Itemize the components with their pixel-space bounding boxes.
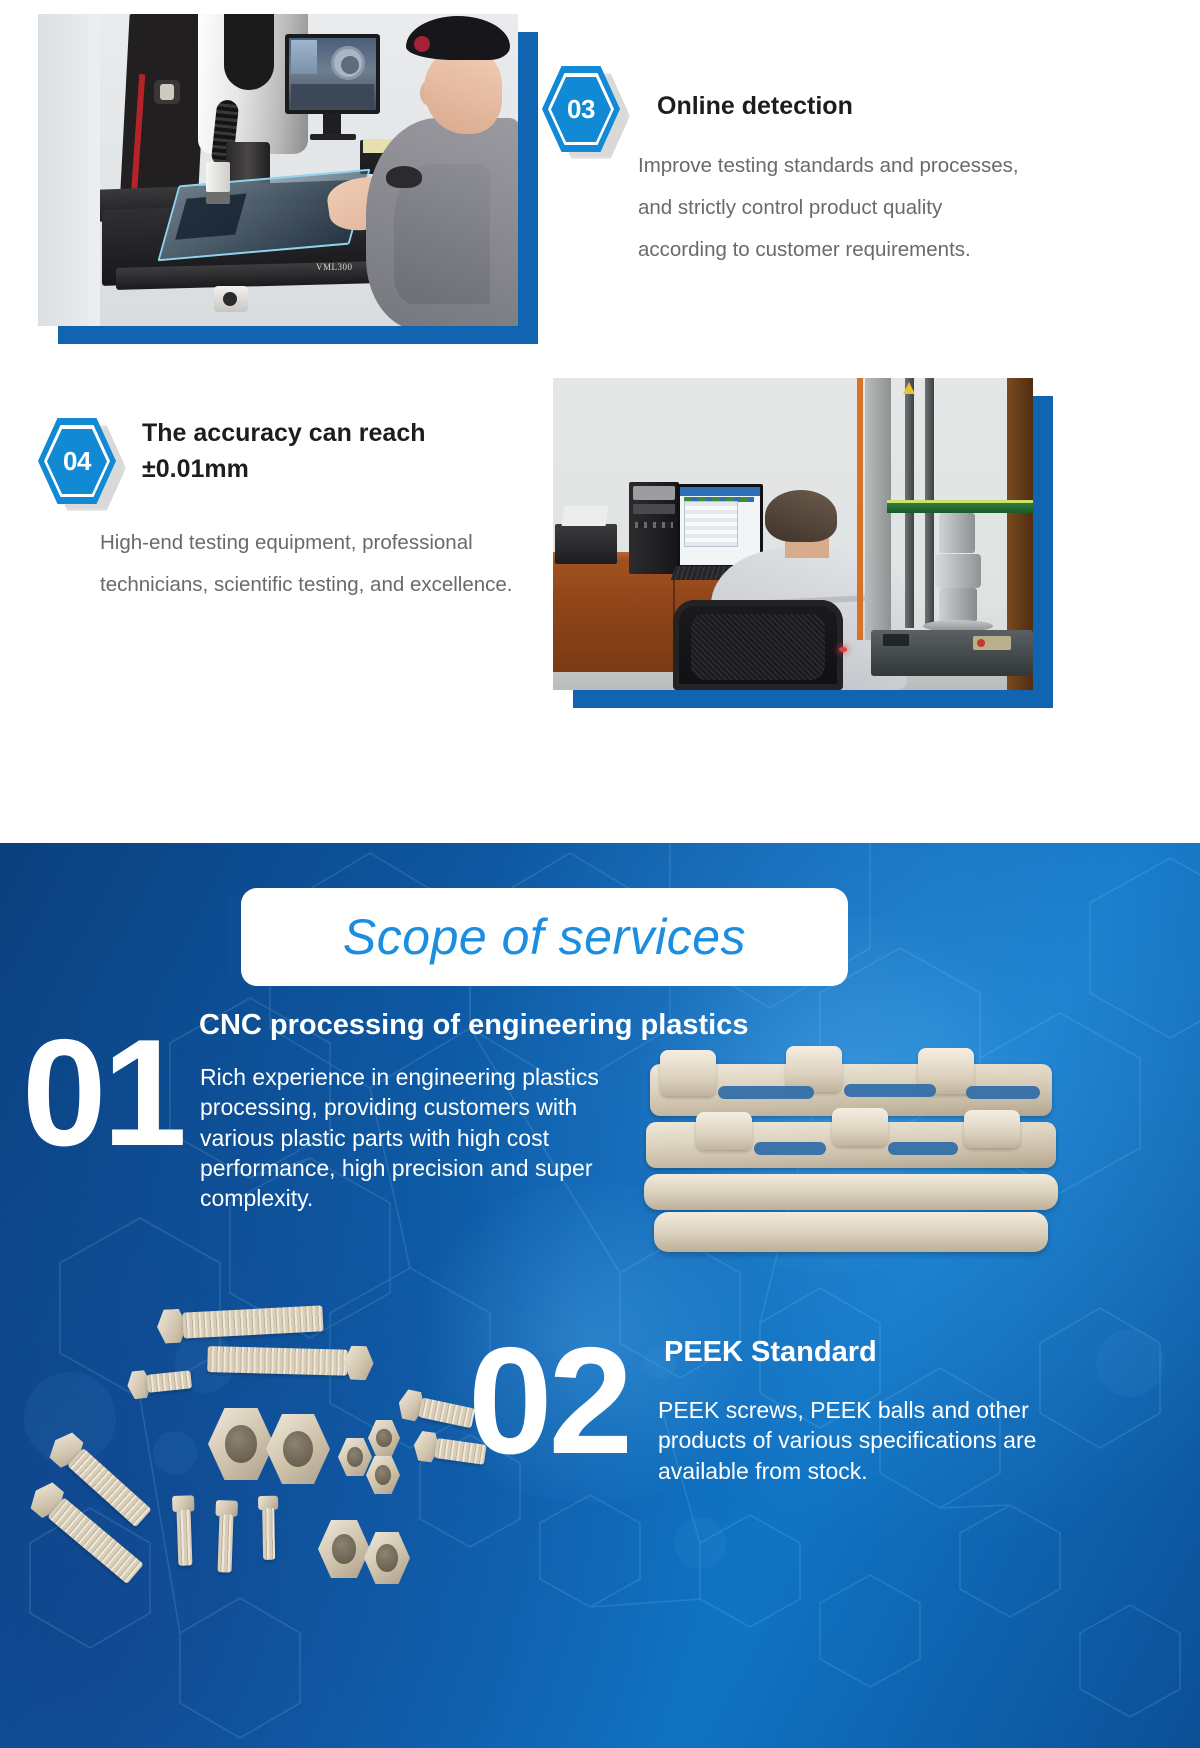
scope-item-title-02: PEEK Standard: [664, 1334, 1184, 1372]
features-section: VML300 03 Online detection Improve: [0, 0, 1200, 843]
scope-heading-text: Scope of services: [343, 908, 746, 966]
scope-heading-box: Scope of services: [241, 888, 848, 986]
scope-item-body-02: PEEK screws, PEEK balls and other produc…: [658, 1395, 1064, 1486]
feature-badge-04: 04: [38, 418, 116, 504]
badge-number: 03: [542, 66, 620, 152]
scope-item-body-01: Rich experience in engineering plastics …: [200, 1062, 632, 1214]
feature-badge-03: 03: [542, 66, 620, 152]
scope-item-number-02: 02: [468, 1330, 629, 1473]
feature-title-04: The accuracy can reach ±0.01mm: [142, 415, 512, 488]
feature-title-03: Online detection: [657, 88, 1057, 124]
feature-body-03: Improve testing standards and processes,…: [638, 145, 1033, 271]
feature-body-04: High-end testing equipment, professional…: [100, 522, 530, 606]
tensile-testing-machine-photo: [553, 378, 1053, 708]
machine-model-label: VML300: [316, 262, 353, 272]
marketing-page: VML300 03 Online detection Improve: [0, 0, 1200, 1748]
badge-number: 04: [38, 418, 116, 504]
peek-screws-nuts-photo: [30, 1280, 460, 1580]
photo-image: [553, 378, 1033, 690]
optical-measuring-machine-photo: VML300: [38, 14, 538, 344]
peek-gear-rack-part-photo: [636, 1046, 1066, 1266]
photo-image: VML300: [38, 14, 518, 326]
scope-item-number-01: 01: [22, 1022, 183, 1165]
scope-item-title-01: CNC processing of engineering plastics: [199, 1007, 959, 1045]
